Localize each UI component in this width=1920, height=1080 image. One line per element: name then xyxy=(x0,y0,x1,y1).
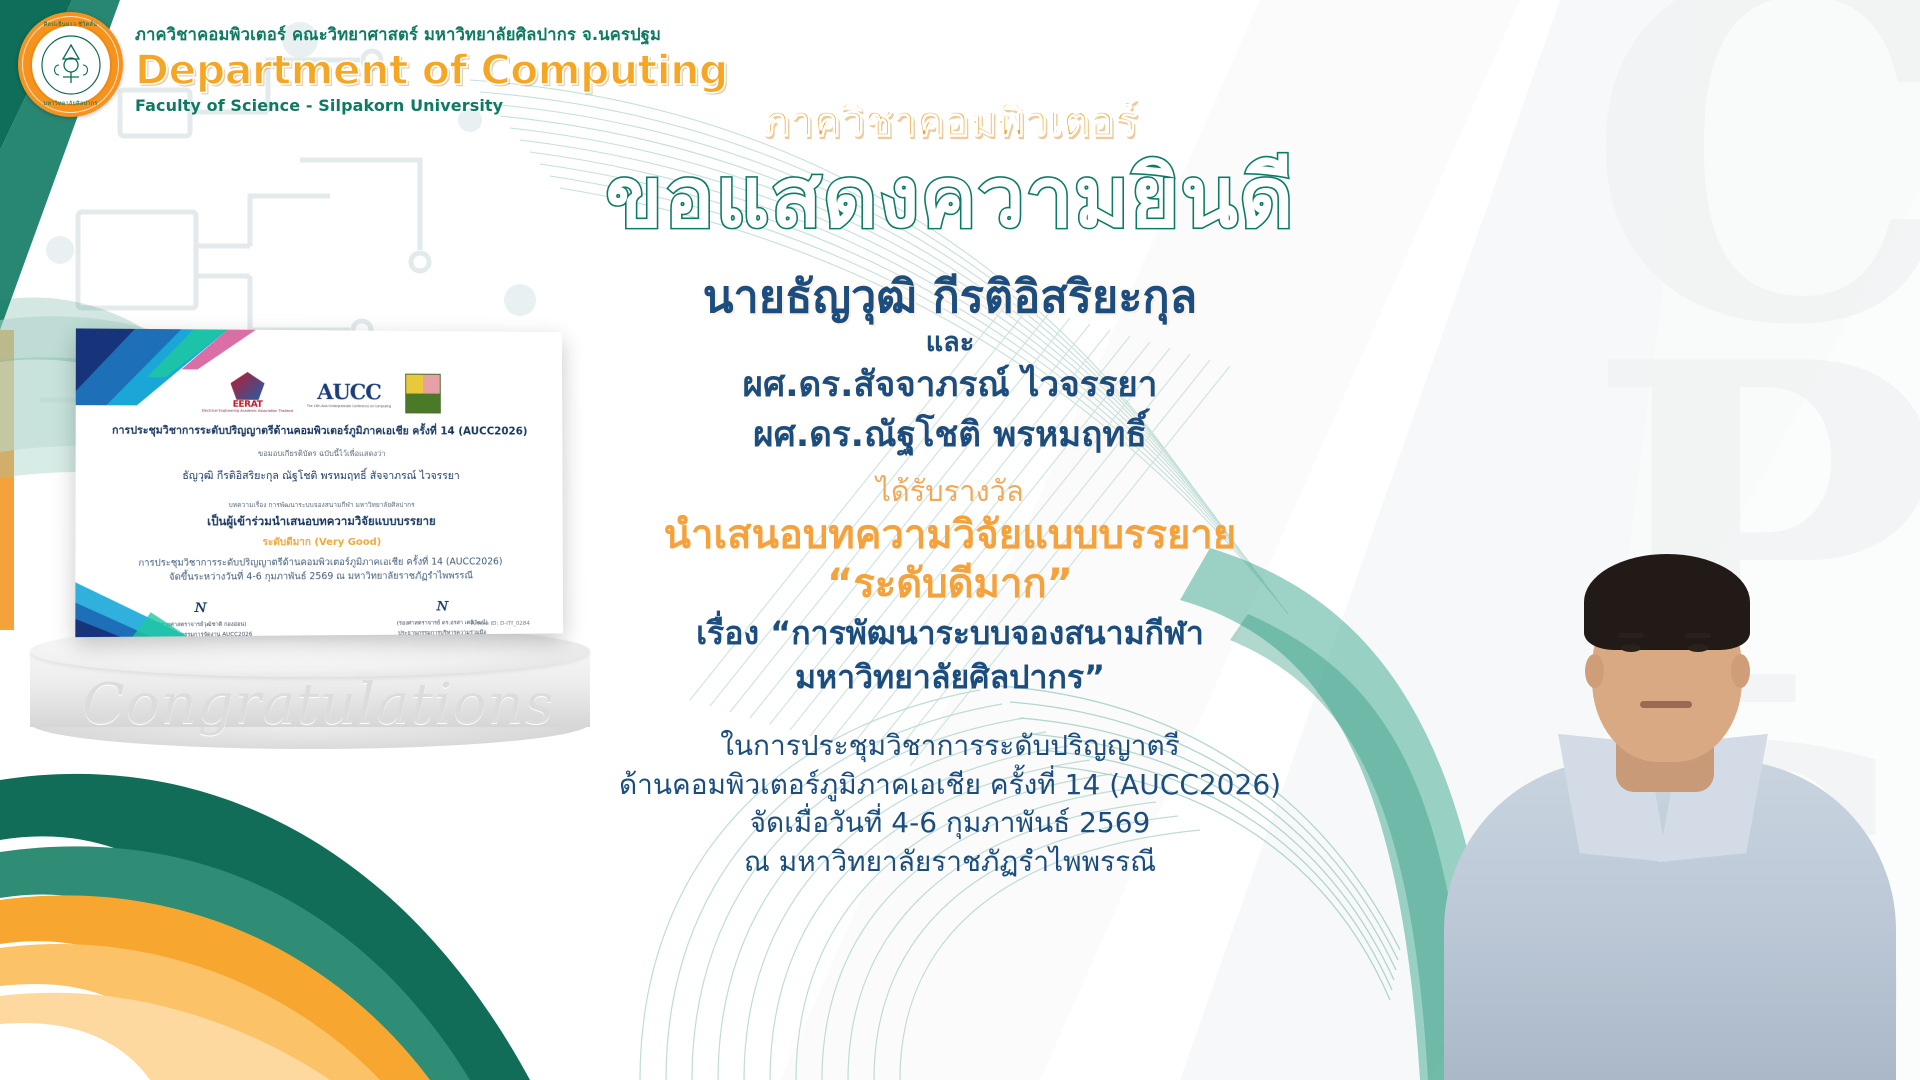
topic-line-1: เรื่อง “การพัฒนาระบบจองสนามกีฬา xyxy=(560,613,1340,653)
conference-line-1: ในการประชุมวิชาการระดับปริญญาตรี xyxy=(560,727,1340,766)
congratulations-heading: ขอแสดงความยินดี xyxy=(560,149,1340,246)
photo-mouth xyxy=(1640,701,1692,708)
conference-line-4: ณ มหาวิทยาลัยราชภัฏรำไพพรรณี xyxy=(560,843,1340,882)
main-content: ภาควิชาคอมพิวเตอร์ ขอแสดงความยินดี นายธั… xyxy=(560,98,1340,881)
certificate-grade: ระดับดีมาก (Very Good) xyxy=(92,534,547,550)
header-english-subtitle: Faculty of Science - Silpakorn Universit… xyxy=(135,96,728,115)
photo-brow-right xyxy=(1685,633,1711,638)
topic-line-2: มหาวิทยาลัยศิลปากร” xyxy=(560,657,1340,697)
aucc-name: AUCC xyxy=(307,379,391,404)
award-type: นำเสนอบทความวิจัยแบบบรรยาย xyxy=(560,511,1340,560)
student-name: นายธัญวุฒิ กีรติอิสริยะกุล xyxy=(560,270,1340,324)
certificate-article-id: Article ID: D-ITf_0284 xyxy=(471,621,530,627)
certificate-recipients: ธัญวุฒิ กีรติอิสริยะกุล ณัฐโชติ พรหมฤทธิ… xyxy=(92,466,547,483)
signature-right-glyph: ɴ xyxy=(368,595,516,618)
certificate-role: เป็นผู้เข้าร่วมนำเสนอบทความวิจัยแบบบรรยา… xyxy=(92,512,547,531)
crest-ring xyxy=(22,16,119,113)
certificate-article-line: บทความเรื่อง การพัฒนาระบบจองสนามกีฬา มหา… xyxy=(92,498,547,509)
photo-eye-right xyxy=(1688,644,1708,652)
photo-ear-left xyxy=(1585,654,1604,688)
header-text-block: ภาควิชาคอมพิวเตอร์ คณะวิทยาศาสตร์ มหาวิท… xyxy=(135,22,728,115)
certificate-title: การประชุมวิชาการระดับปริญญาตรีด้านคอมพิว… xyxy=(92,424,547,439)
photo-ear-right xyxy=(1731,654,1750,688)
certificate-ribbon-top xyxy=(76,328,308,406)
graduate-photo xyxy=(1420,520,1920,1080)
photo-hair xyxy=(1584,554,1750,650)
header-thai-line: ภาควิชาคอมพิวเตอร์ คณะวิทยาศาสตร์ มหาวิท… xyxy=(135,22,728,48)
awarded-label: ได้รับรางวัล xyxy=(560,474,1340,509)
header-english-title: Department of Computing xyxy=(135,46,728,94)
advisor-name-1: ผศ.ดร.สัจจาภรณ์ ไวจรรยา xyxy=(560,363,1340,409)
aucc-logo-icon: AUCC The 14th Asia Undergraduate Confere… xyxy=(307,379,391,408)
advisor-name-2: ผศ.ดร.ณัฐโชติ พรหมฤทธิ์ xyxy=(560,413,1340,459)
certificate-image: EERAT Electrical Engineering Academic As… xyxy=(75,328,563,637)
rbru-quad-3 xyxy=(406,393,423,412)
conference-line-2: ด้านคอมพิวเตอร์ภูมิภาคเอเชีย ครั้งที่ 14… xyxy=(560,766,1340,805)
certificate-intro: ขอมอบเกียรติบัตร ฉบับนี้ไว้เพื่อแสดงว่า xyxy=(92,447,547,460)
conference-line-3: จัดเมื่อวันที่ 4-6 กุมภาพันธ์ 2569 xyxy=(560,804,1340,843)
congratulations-script: Congratulations xyxy=(82,672,554,737)
rbru-logo-icon xyxy=(405,374,441,414)
signature-right: ɴ (รองศาสตราจารย์ ดร.อรสา เตติวัฒน์) ประ… xyxy=(368,595,516,637)
rbru-quad-1 xyxy=(406,375,423,394)
rbru-quad-2 xyxy=(423,375,440,394)
banner-canvas: C P S ศิลปะยืนยาว ชีวิตสั้น มหาวิทยาลัยศ… xyxy=(0,0,1920,1080)
certificate-ribbon-bottom xyxy=(75,563,278,637)
award-grade: “ระดับดีมาก” xyxy=(560,560,1340,609)
rbru-quad-4 xyxy=(423,394,440,413)
photo-eye-left xyxy=(1621,644,1641,652)
certificate-card: EERAT Electrical Engineering Academic As… xyxy=(75,328,563,637)
crest-top-text: ศิลปะยืนยาว ชีวิตสั้น xyxy=(18,21,123,29)
aucc-sub: The 14th Asia Undergraduate Conference o… xyxy=(307,404,391,408)
crest-bottom-text: มหาวิทยาลัยศิลปากร xyxy=(18,100,123,108)
eerat-sub: Electrical Engineering Academic Associat… xyxy=(202,410,293,414)
page-header: ศิลปะยืนยาว ชีวิตสั้น มหาวิทยาลัยศิลปากร… xyxy=(0,0,900,125)
and-label: และ xyxy=(560,326,1340,360)
photo-brow-left xyxy=(1618,633,1644,638)
university-crest-icon: ศิลปะยืนยาว ชีวิตสั้น มหาวิทยาลัยศิลปากร xyxy=(18,12,123,117)
